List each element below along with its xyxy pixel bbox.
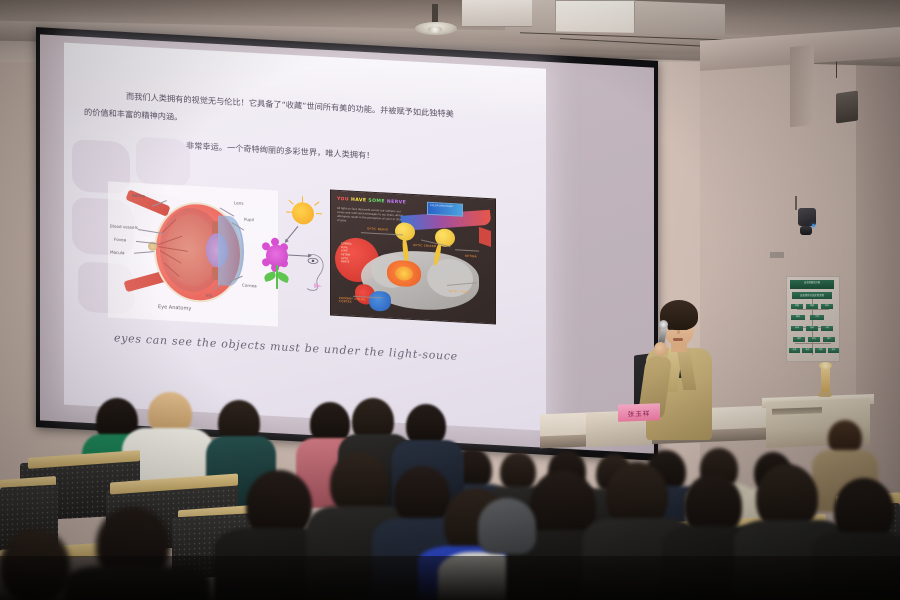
- eyeball-node-left: [395, 222, 415, 241]
- desk-lamp-bulb: [819, 362, 832, 369]
- board-chip-5-text: 引导: [810, 315, 824, 320]
- poster-title-word-2: HAVE: [351, 198, 366, 204]
- board-chip-14: 后勤: [815, 348, 826, 353]
- poster-title-word-1: YOU: [337, 197, 349, 203]
- sun-ray-5: [316, 213, 322, 215]
- notice-board-header: 安全疏散指示图: [790, 280, 834, 289]
- ceiling-access-box: [462, 0, 532, 27]
- board-chip-9-text: 消防: [793, 337, 805, 342]
- board-chip-1: 报警: [791, 304, 803, 309]
- sun-ray-2: [288, 200, 293, 205]
- notice-board-subheader: 突发事件应急处置流程: [792, 292, 832, 299]
- board-chip-8-text: 上报: [821, 326, 833, 331]
- eye-figure-caption: Eye Anatomy: [158, 304, 191, 312]
- camera-lens-icon: [800, 226, 812, 235]
- label-cornea: Cornea: [242, 283, 257, 289]
- board-chip-3-text: 救护: [821, 304, 833, 309]
- poster-body-text: All light on face descends across our su…: [337, 207, 407, 227]
- poster-leader-retina: [455, 249, 479, 251]
- board-chip-10: 医疗: [808, 337, 820, 342]
- microphone-head-icon: [659, 320, 668, 329]
- arrow-sun-to-flower: [287, 226, 299, 240]
- poster-title-word-3: SOME: [368, 199, 385, 205]
- poster-label-optic-chiasm: OPTIC CHIASM: [413, 243, 436, 248]
- board-chip-11: 保卫: [823, 337, 835, 342]
- poster-ribbon-tail: [479, 227, 491, 247]
- foreground-shadow: [0, 556, 900, 600]
- board-chip-2: 疏散: [806, 304, 818, 309]
- face-profile-svg: [304, 252, 328, 293]
- slide-watermark-4: [136, 137, 190, 188]
- board-chip-4-text: 警戒: [791, 315, 805, 320]
- name-placard-text: 张玉祥: [628, 407, 651, 418]
- poster-label-retina: RETINA: [465, 254, 477, 259]
- board-chip-1-text: 报警: [791, 304, 803, 309]
- optic-nerve-poster: YOU HAVE SOME NERVE All light on face de…: [330, 190, 496, 325]
- board-chip-15: 值班: [828, 348, 839, 353]
- poster-label-visual-cortex: PRIMARY VISUAL CORTEX: [339, 297, 373, 306]
- board-chip-11-text: 保卫: [823, 337, 835, 342]
- board-chip-7: 指挥: [806, 326, 818, 331]
- board-chip-4: 警戒: [791, 315, 805, 320]
- board-chip-13-text: 教务: [802, 348, 813, 353]
- label-pupil: Pupil: [244, 217, 254, 223]
- poster-spectrum-swatch: COLOR SPECTRUM: [427, 202, 463, 217]
- board-chip-3: 救护: [821, 304, 833, 309]
- poster-title: YOU HAVE SOME NERVE: [337, 197, 406, 206]
- camera-led-indicator: [812, 224, 815, 227]
- label-lens: Lens: [234, 200, 243, 206]
- leader-macula: [134, 251, 154, 253]
- board-connector-h3: [795, 343, 831, 344]
- sun-icon: [292, 202, 314, 225]
- projector-lens-icon: [428, 26, 442, 33]
- wall-fixture-strip: [770, 252, 784, 258]
- light-source-figure: [258, 194, 336, 314]
- label-blood-vessels: Blood vessels: [110, 224, 138, 231]
- board-chip-15-text: 值班: [828, 348, 839, 353]
- board-chip-14-text: 后勤: [815, 348, 826, 353]
- observer-face-icon: [304, 252, 328, 293]
- poster-label-optic-nerve: OPTIC NERVE: [367, 227, 388, 232]
- notice-board-header-text: 安全疏散指示图: [790, 280, 834, 285]
- label-fovea: Fovea: [114, 237, 126, 243]
- flower-leaf-right: [276, 271, 290, 283]
- name-placard: 张玉祥: [618, 403, 660, 421]
- lecturer-hand: [654, 342, 667, 356]
- board-chip-6-text: 现场: [791, 326, 803, 331]
- audience-beanie-hat: [478, 498, 536, 554]
- board-chip-6: 现场: [791, 326, 803, 331]
- right-pillar: [790, 45, 814, 128]
- board-chip-5: 引导: [810, 315, 824, 320]
- board-chip-12-text: 总务: [789, 348, 800, 353]
- board-connector-vertical: [812, 293, 813, 355]
- label-retina: Retina: [132, 193, 145, 199]
- desk-lamp-base: [818, 392, 832, 397]
- camera-mount-arm: [795, 196, 797, 210]
- wall-speaker: [836, 90, 858, 123]
- lecturer-mouth: [673, 338, 683, 341]
- desk-lamp: [821, 366, 830, 394]
- board-chip-10-text: 医疗: [808, 337, 820, 342]
- board-chip-2-text: 疏散: [806, 304, 818, 309]
- optic-chiasm-core: [395, 266, 413, 281]
- sun-ray-3: [314, 201, 319, 206]
- label-iris: Iris: [206, 293, 212, 298]
- lecture-hall-photo: 而我们人类拥有的视觉无与伦比！它具备了“收藏”世间所有美的功能。并被赋予如此独特…: [0, 0, 900, 600]
- audience-head-near-3: [394, 466, 450, 526]
- sun-ray-4: [286, 211, 292, 213]
- lecturer: [640, 300, 720, 450]
- board-chip-12: 总务: [789, 348, 800, 353]
- poster-swatch-label: COLOR SPECTRUM: [428, 203, 462, 210]
- board-chip-8: 上报: [821, 326, 833, 331]
- sun-ray-1: [302, 196, 303, 202]
- notice-board-subheader-text: 突发事件应急处置流程: [792, 292, 832, 299]
- board-connector-h1: [797, 309, 829, 310]
- eye-anatomy-figure: Retina Blood vessels Fovea Macula Lens P…: [108, 181, 278, 326]
- board-chip-9: 消防: [793, 337, 805, 342]
- board-chip-7-text: 指挥: [806, 326, 818, 331]
- label-macula: Macula: [110, 250, 125, 256]
- flower-leaf-left: [263, 271, 277, 282]
- board-chip-13: 教务: [802, 348, 813, 353]
- poster-title-word-4: NERVE: [387, 200, 406, 206]
